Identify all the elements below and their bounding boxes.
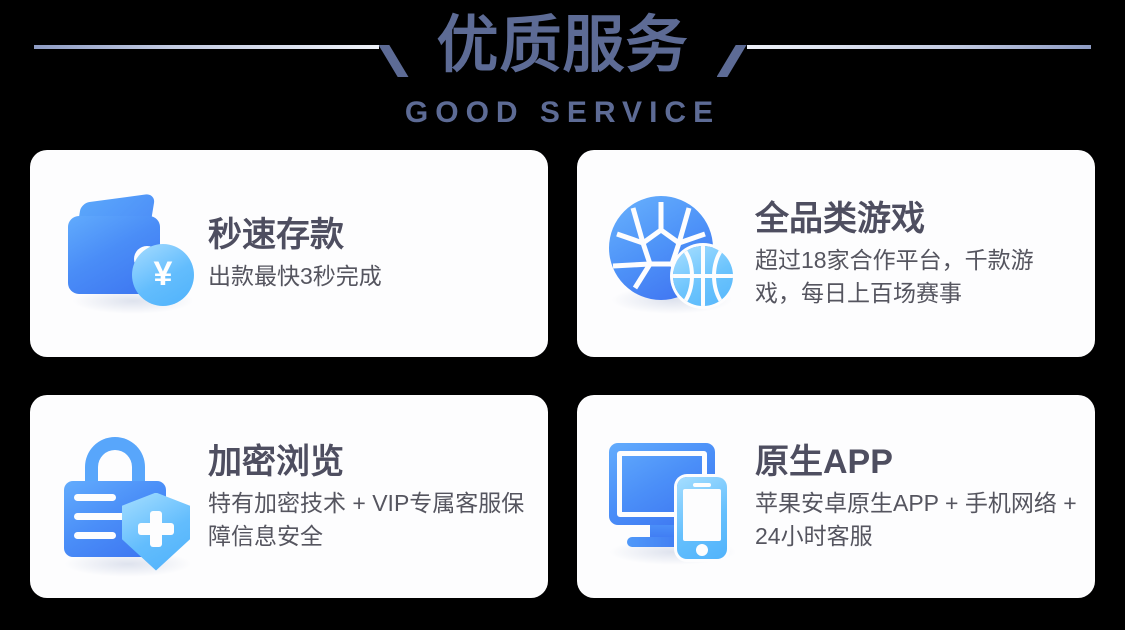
card-text-games: 全品类游戏 超过18家合作平台，千款游戏，每日上百场赛事 — [755, 198, 1077, 310]
card-text-deposit: 秒速存款 出款最快3秒完成 — [208, 214, 530, 293]
decoration-left-line — [34, 45, 379, 49]
yen-coin-icon: ¥ — [132, 244, 194, 306]
card-description: 超过18家合作平台，千款游戏，每日上百场赛事 — [755, 244, 1077, 310]
yen-symbol-icon: ¥ — [154, 257, 173, 291]
header-decoration-row: 优质服务 — [0, 0, 1125, 92]
wallet-yen-coin-icon: ¥ — [56, 188, 204, 320]
decoration-right-line — [747, 45, 1092, 49]
card-title: 秒速存款 — [208, 214, 530, 256]
card-description: 出款最快3秒完成 — [208, 260, 530, 293]
feature-card-native-app[interactable]: 原生APP 苹果安卓原生APP + 手机网络 + 24小时客服 — [577, 395, 1095, 598]
basketball-icon — [673, 246, 733, 306]
lock-shield-icon — [56, 431, 204, 563]
lock-stripe-icon — [74, 494, 116, 501]
decoration-left — [0, 0, 425, 92]
card-title: 加密浏览 — [208, 441, 530, 483]
page-title: 优质服务 — [437, 10, 689, 82]
decoration-right — [701, 0, 1125, 92]
soccer-basketball-icon — [603, 188, 751, 320]
phone-speaker-icon — [693, 483, 711, 487]
card-description: 苹果安卓原生APP + 手机网络 + 24小时客服 — [755, 487, 1077, 553]
card-text-encryption: 加密浏览 特有加密技术 + VIP专属客服保障信息安全 — [208, 441, 530, 553]
page-subtitle: GOOD SERVICE — [0, 96, 1125, 130]
good-service-panel: 优质服务 GOOD SERVICE ¥ 秒速存款 出款最快3 — [0, 0, 1125, 630]
feature-card-grid: ¥ 秒速存款 出款最快3秒完成 — [30, 150, 1095, 598]
decoration-right-slash-icon — [717, 45, 747, 77]
card-description: 特有加密技术 + VIP专属客服保障信息安全 — [208, 487, 530, 553]
lock-stripe-icon — [74, 532, 116, 539]
card-text-native-app: 原生APP 苹果安卓原生APP + 手机网络 + 24小时客服 — [755, 441, 1077, 553]
feature-card-encryption[interactable]: 加密浏览 特有加密技术 + VIP专属客服保障信息安全 — [30, 395, 548, 598]
phone-home-button-icon — [696, 544, 708, 556]
cross-icon — [138, 523, 174, 535]
card-title: 全品类游戏 — [755, 198, 1077, 240]
phone-screen-icon — [683, 489, 721, 541]
page-header: 优质服务 GOOD SERVICE — [0, 0, 1125, 140]
page-title-block: 优质服务 — [433, 10, 693, 82]
monitor-phone-icon — [603, 431, 751, 563]
feature-card-deposit[interactable]: ¥ 秒速存款 出款最快3秒完成 — [30, 150, 548, 357]
card-title: 原生APP — [755, 441, 1077, 483]
feature-card-games[interactable]: 全品类游戏 超过18家合作平台，千款游戏，每日上百场赛事 — [577, 150, 1095, 357]
decoration-left-slash-icon — [379, 45, 409, 77]
